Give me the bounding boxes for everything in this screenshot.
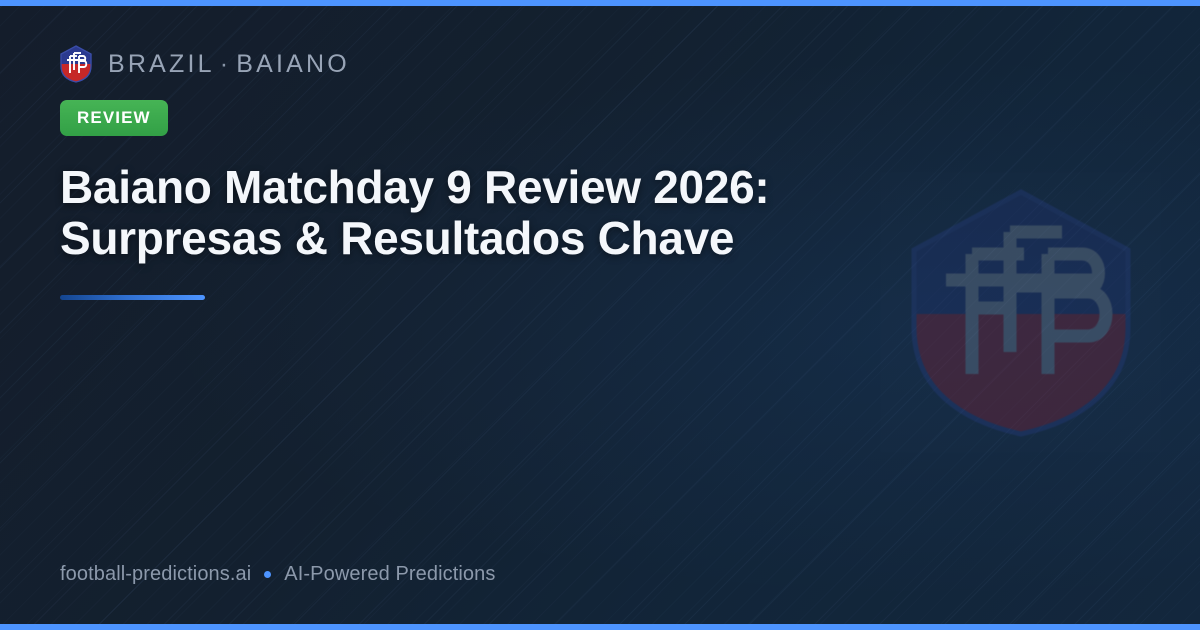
title-accent-rule <box>60 295 205 300</box>
breadcrumb-separator: · <box>215 50 237 78</box>
breadcrumb: BRAZIL·BAIANO <box>60 40 940 88</box>
bottom-accent-bar <box>0 624 1200 630</box>
breadcrumb-league: BAIANO <box>236 50 350 78</box>
og-card: BRAZIL·BAIANO REVIEW Baiano Matchday 9 R… <box>0 0 1200 630</box>
footer-site-name: football-predictions.ai <box>60 563 251 586</box>
status-badge: REVIEW <box>60 100 168 136</box>
card-content: BRAZIL·BAIANO REVIEW Baiano Matchday 9 R… <box>60 40 940 300</box>
federation-shield-icon <box>60 45 92 83</box>
footer-tagline: AI-Powered Predictions <box>284 563 495 586</box>
breadcrumb-text: BRAZIL·BAIANO <box>108 50 350 79</box>
blue-dot-icon <box>264 571 271 578</box>
top-accent-bar <box>0 0 1200 6</box>
breadcrumb-country: BRAZIL <box>108 50 215 78</box>
footer: football-predictions.ai AI-Powered Predi… <box>60 563 495 586</box>
page-title: Baiano Matchday 9 Review 2026: Surpresas… <box>60 162 920 264</box>
status-badge-row: REVIEW <box>60 100 940 136</box>
